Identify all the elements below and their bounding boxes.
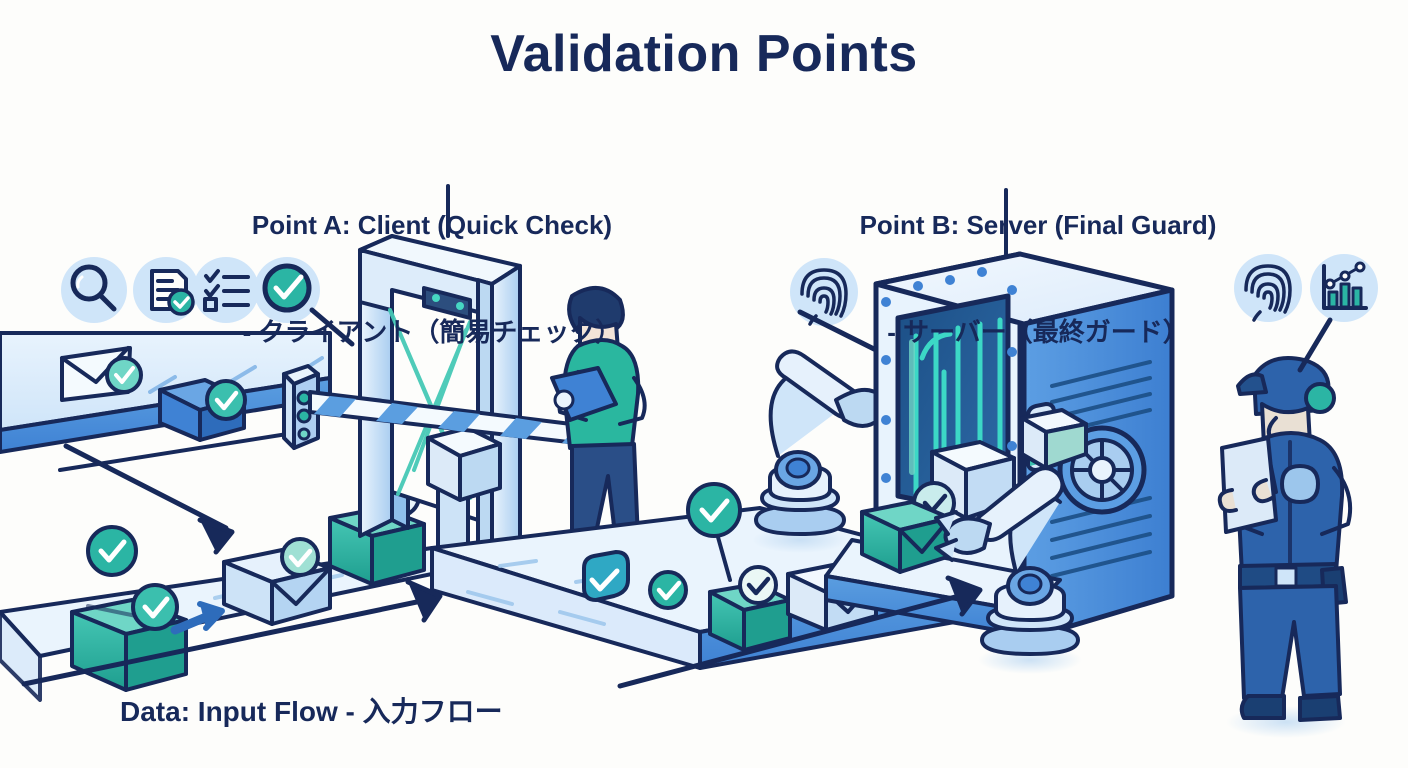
point-b-label-ja: - サーバー（最終ガード） <box>718 315 1358 351</box>
point-b-label: Point B: Server (Final Guard) - サーバー（最終ガ… <box>718 136 1358 423</box>
point-a-label: Point A: Client (Quick Check) - クライアント（簡… <box>112 136 752 423</box>
point-a-label-ja: - クライアント（簡易チェック） <box>112 315 752 351</box>
check-badge-pin <box>88 527 136 575</box>
page-title: Validation Points <box>0 24 1408 84</box>
check-shield-badge <box>584 552 628 600</box>
package-teal-envelope <box>862 502 950 572</box>
check-badge <box>133 585 177 629</box>
check-badge <box>650 572 686 608</box>
package-white <box>428 428 500 500</box>
point-b-label-en: Point B: Server (Final Guard) <box>718 208 1358 244</box>
check-badge <box>740 567 776 603</box>
flow-caption: Data: Input Flow - 入力フロー <box>120 690 680 730</box>
diagram-canvas: Validation Points Point A: Client (Quick… <box>0 0 1408 768</box>
point-a-label-en: Point A: Client (Quick Check) <box>112 208 752 244</box>
check-badge <box>282 539 318 575</box>
